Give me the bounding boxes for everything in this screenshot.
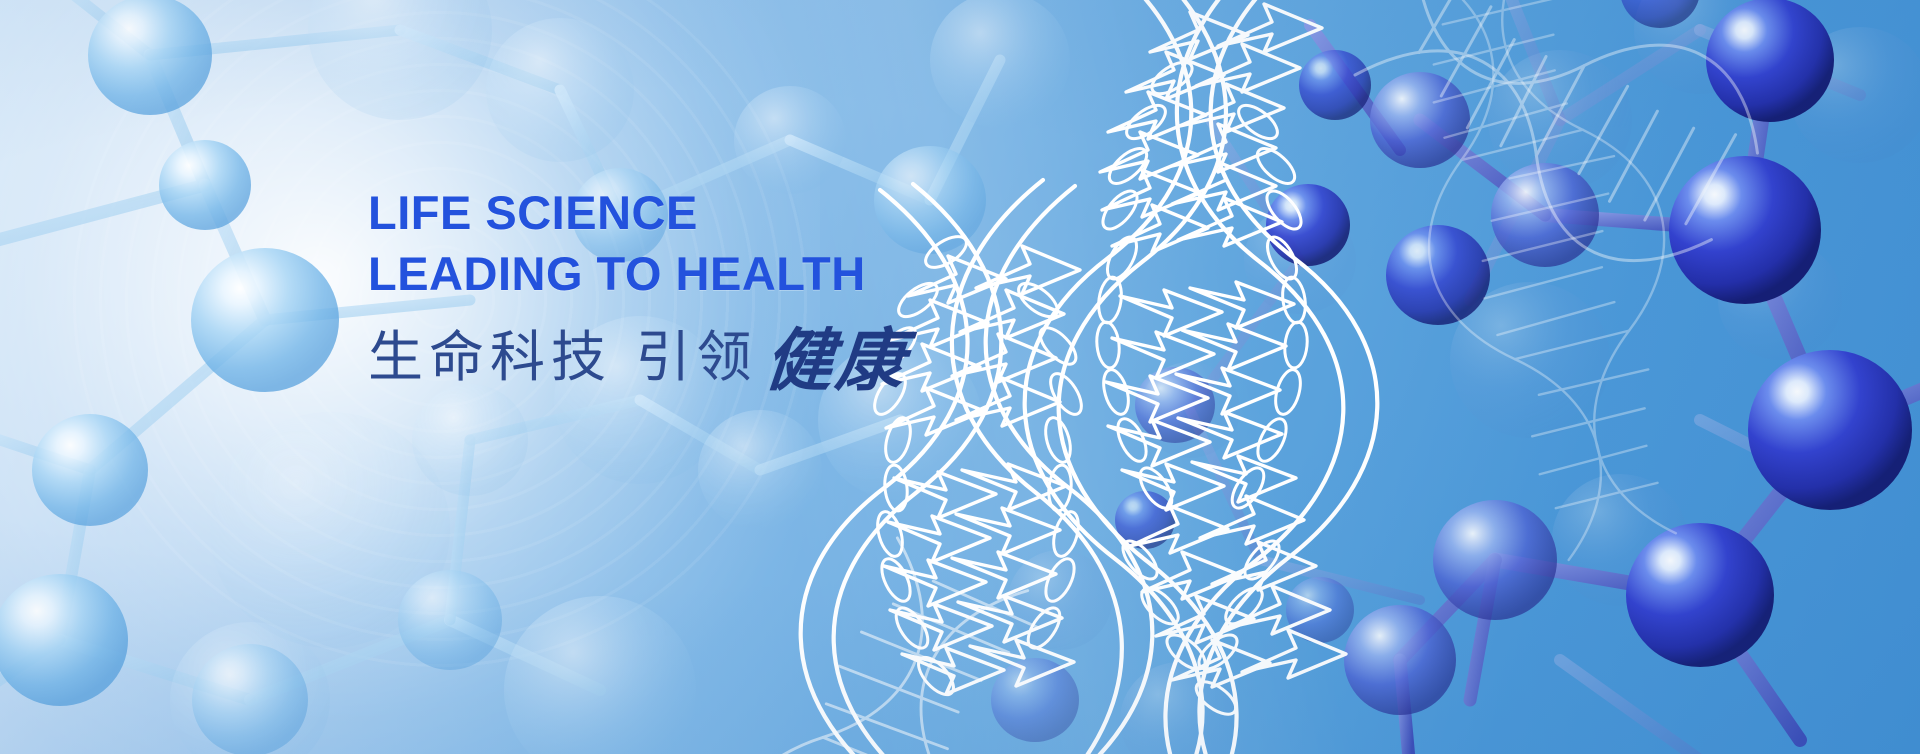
subheadline-regular: 生命科技 引领 [368, 325, 757, 389]
headline-block: LIFE SCIENCE LEADING TO HEALTH 生命科技 引领 健… [368, 182, 908, 389]
background-vignette [0, 0, 1920, 754]
headline-line-1: LIFE SCIENCE [368, 182, 908, 243]
life-science-banner: LIFE SCIENCE LEADING TO HEALTH 生命科技 引领 健… [0, 0, 1920, 754]
subheadline-brush: 健康 [763, 329, 911, 393]
headline-line-2: LEADING TO HEALTH [368, 243, 908, 304]
subheadline-row: 生命科技 引领 健康 [368, 325, 908, 389]
